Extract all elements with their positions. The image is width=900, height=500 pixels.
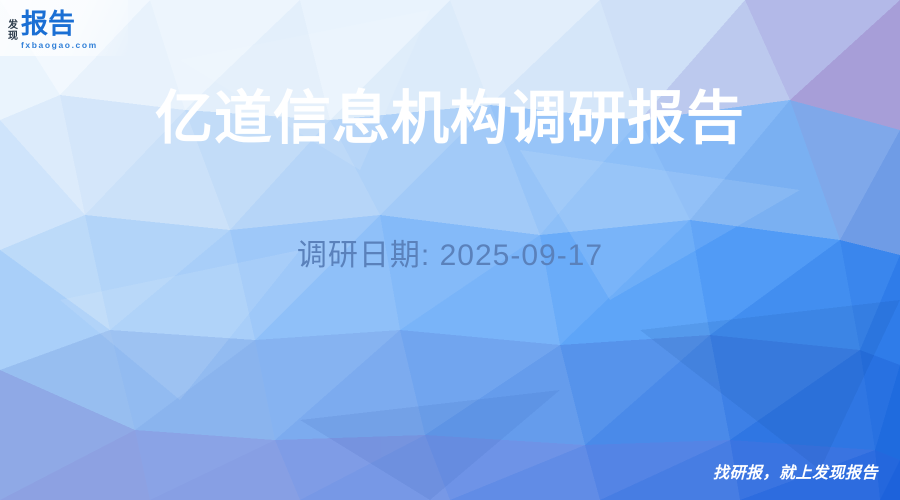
logo-stacked-chars: 发 现: [8, 20, 18, 41]
logo-char-fa: 发: [8, 21, 18, 31]
logo-main: 报告 fxbaogao.com: [21, 12, 98, 50]
survey-date-subtitle: 调研日期: 2025-09-17: [0, 230, 900, 274]
brand-tagline: 找研报，就上发现报告: [713, 459, 878, 483]
report-cover: 发 现 报告 fxbaogao.com 亿道信息机构调研报告 调研日期: 202…: [0, 0, 900, 500]
page-title: 亿道信息机构调研报告: [0, 86, 900, 153]
logo-char-xian: 现: [8, 32, 18, 42]
logo-url: fxbaogao.com: [21, 40, 98, 50]
fxbaogao-logo[interactable]: 发 现 报告 fxbaogao.com: [0, 0, 128, 56]
logo-wordmark: 报告: [21, 12, 98, 38]
